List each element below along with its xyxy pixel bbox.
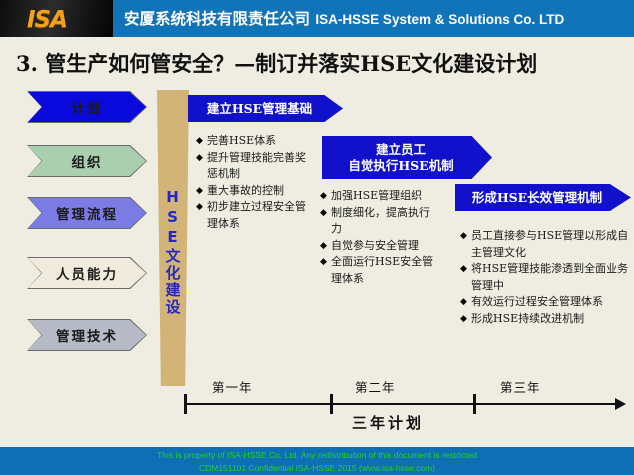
phase-3-bullets: ◆ 员工直接参与HSE管理以形成自主管理文化 ◆ 将HSE管理技能渗透到全面业务… <box>460 228 630 327</box>
pillar-chevron-process[interactable]: 管理流程 <box>28 198 146 228</box>
bullet-text: 有效运行过程安全管理体系 <box>471 294 630 311</box>
timeline-year-3: 第三年 <box>500 377 541 396</box>
timeline-arrow-icon <box>615 398 626 410</box>
footer-line-1: This is property of ISA-HSSE Co. Ltd. An… <box>0 449 634 462</box>
bullet-text: 形成HSE持续改进机制 <box>471 311 630 328</box>
bullet-text: 完善HSE体系 <box>207 133 314 150</box>
bullet-text: 全面运行HSE安全管理体系 <box>331 254 440 287</box>
bullet-text: 将HSE管理技能渗透到全面业务管理中 <box>471 261 630 294</box>
diamond-bullet-icon: ◆ <box>196 150 207 167</box>
list-item: ◆ 提升管理技能完善奖惩机制 <box>196 150 314 183</box>
pillar-chevron-plan[interactable]: 计划 <box>28 92 146 122</box>
list-item: ◆ 员工直接参与HSE管理以形成自主管理文化 <box>460 228 630 261</box>
bullet-text: 制度细化，提高执行力 <box>331 205 440 238</box>
diamond-bullet-icon: ◆ <box>460 228 471 245</box>
list-item: ◆ 全面运行HSE安全管理体系 <box>320 254 440 287</box>
phase-2-banner-line2: 自觉执行HSE机制 <box>348 158 453 174</box>
diamond-bullet-icon: ◆ <box>320 254 331 271</box>
bullet-text: 初步建立过程安全管理体系 <box>207 199 314 232</box>
timeline-tick-2 <box>330 394 333 414</box>
footer-line-2: CDM151101 Confidential ISA-HSSE 2015 (ww… <box>0 462 634 475</box>
diamond-bullet-icon: ◆ <box>196 199 207 216</box>
hse-culture-banner-label: HSE文化建设 <box>163 188 184 316</box>
phase-1-bullets: ◆ 完善HSE体系 ◆ 提升管理技能完善奖惩机制 ◆ 重大事故的控制 ◆ 初步建… <box>196 133 314 232</box>
list-item: ◆ 完善HSE体系 <box>196 133 314 150</box>
slide-canvas: ISA 安厦系统科技有限责任公司 ISA-HSSE System & Solut… <box>0 0 634 475</box>
diamond-bullet-icon: ◆ <box>460 294 471 311</box>
bullet-text: 自觉参与安全管理 <box>331 238 440 255</box>
pillar-chevron-technology[interactable]: 管理技术 <box>28 320 146 350</box>
phase-2-banner[interactable]: 建立员工 自觉执行HSE机制 <box>322 136 492 179</box>
timeline-tick-3 <box>473 394 476 414</box>
bullet-text: 重大事故的控制 <box>207 183 314 200</box>
list-item: ◆ 自觉参与安全管理 <box>320 238 440 255</box>
bullet-text: 员工直接参与HSE管理以形成自主管理文化 <box>471 228 630 261</box>
pillar-chevron-competency[interactable]: 人员能力 <box>28 258 146 288</box>
hse-culture-banner-textwrap: HSE文化建设 <box>157 90 189 386</box>
company-title: 安厦系统科技有限责任公司 ISA-HSSE System & Solutions… <box>124 7 564 29</box>
list-item: ◆ 有效运行过程安全管理体系 <box>460 294 630 311</box>
list-item: ◆ 重大事故的控制 <box>196 183 314 200</box>
timeline-axis <box>185 403 617 405</box>
bullet-text: 提升管理技能完善奖惩机制 <box>207 150 314 183</box>
diamond-bullet-icon: ◆ <box>196 183 207 200</box>
phase-3-banner[interactable]: 形成HSE长效管理机制 <box>455 184 631 211</box>
timeline-plan-label: 三年计划 <box>352 412 424 433</box>
bullet-text: 加强HSE管理组织 <box>331 188 440 205</box>
isa-logo: ISA <box>27 7 67 33</box>
company-title-cn: 安厦系统科技有限责任公司 <box>124 10 310 28</box>
phase-1-banner[interactable]: 建立HSE管理基础 <box>188 95 343 122</box>
diamond-bullet-icon: ◆ <box>460 311 471 328</box>
list-item: ◆ 加强HSE管理组织 <box>320 188 440 205</box>
diamond-bullet-icon: ◆ <box>460 261 471 278</box>
phase-2-bullets: ◆ 加强HSE管理组织 ◆ 制度细化，提高执行力 ◆ 自觉参与安全管理 ◆ 全面… <box>320 188 440 287</box>
slide-header: ISA 安厦系统科技有限责任公司 ISA-HSSE System & Solut… <box>0 0 634 37</box>
timeline-year-1: 第一年 <box>212 377 253 396</box>
list-item: ◆ 形成HSE持续改进机制 <box>460 311 630 328</box>
diamond-bullet-icon: ◆ <box>320 238 331 255</box>
slide-footer: This is property of ISA-HSSE Co. Ltd. An… <box>0 447 634 475</box>
diamond-bullet-icon: ◆ <box>320 188 331 205</box>
company-title-en: ISA-HSSE System & Solutions Co. LTD <box>315 12 564 27</box>
logo-plate: ISA <box>0 0 113 37</box>
page-title: 3. 管生产如何管安全？—制订并落实HSE文化建设计划 <box>16 48 626 78</box>
list-item: ◆ 制度细化，提高执行力 <box>320 205 440 238</box>
list-item: ◆ 初步建立过程安全管理体系 <box>196 199 314 232</box>
timeline-year-2: 第二年 <box>355 377 396 396</box>
timeline-tick-1 <box>184 394 187 414</box>
diamond-bullet-icon: ◆ <box>196 133 207 150</box>
diamond-bullet-icon: ◆ <box>320 205 331 222</box>
phase-2-banner-line1: 建立员工 <box>348 142 453 158</box>
pillar-chevron-organization[interactable]: 组织 <box>28 146 146 176</box>
list-item: ◆ 将HSE管理技能渗透到全面业务管理中 <box>460 261 630 294</box>
